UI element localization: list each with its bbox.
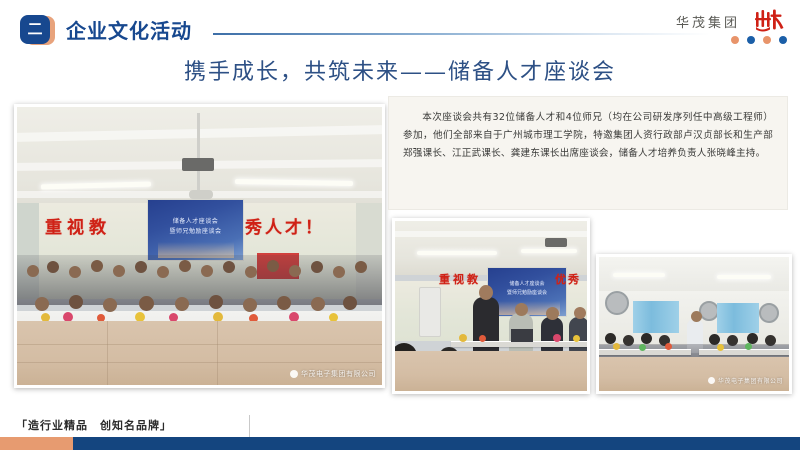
footer-divider [249, 415, 250, 437]
photo-watermark: 华茂电子集团有限公司 [290, 369, 376, 379]
room-light-1 [613, 273, 665, 277]
room-item-3 [665, 343, 672, 350]
brand-dot-2 [747, 36, 755, 44]
room-table-right [699, 349, 789, 355]
seminar-panelist-3-head [574, 307, 586, 319]
footer-bar-orange [0, 437, 73, 450]
section-badge-number: 二 [20, 15, 50, 44]
seminar-projector [545, 238, 567, 247]
slide-main-title: 携手成长，共筑未来——储备人才座谈会 [0, 54, 800, 86]
seminar-screen-line-2: 暨师兄勉励座谈会 [488, 289, 566, 296]
header-divider-rule [213, 33, 710, 35]
projector-mount [189, 190, 213, 199]
section-title: 企业文化活动 [66, 15, 192, 44]
watermark-text: 华茂电子集团有限公司 [301, 369, 376, 379]
projection-screen: 储备人才座谈会 暨师兄勉励座谈会 [147, 199, 244, 261]
projector-body [182, 158, 214, 171]
room-wechat-icon [708, 377, 715, 384]
floor-line-3 [107, 321, 108, 385]
room-item-1 [613, 343, 620, 350]
brand-dot-3 [763, 36, 771, 44]
floor-line-1 [17, 344, 382, 345]
seminar-panelist-2-head [546, 307, 559, 320]
room-light-2 [717, 275, 771, 279]
wall-banner-right: 秀人才！ [245, 213, 325, 238]
seminar-floor [395, 351, 587, 391]
room-curtain-1 [633, 301, 679, 333]
projector-rod [197, 113, 200, 161]
seminar-banner-right: 优秀 [555, 271, 581, 287]
seminar-banner-left: 重视教 [439, 271, 481, 287]
slide-root: 二 企业文化活动 华茂集团 [0, 0, 800, 450]
footer-bar-blue [73, 437, 800, 450]
screen-line-2: 暨师兄勉励座谈会 [148, 226, 243, 235]
description-panel: 本次座谈会共有32位储备人才和4位师兄（均在公司研发序列任中高级工程师）参加，他… [388, 96, 788, 210]
footer-slogan: 「造行业精品 创知名品牌」 [16, 417, 172, 433]
seminar-beam [395, 231, 587, 237]
room-curtain-2 [717, 303, 759, 333]
room-item-5 [745, 343, 752, 350]
room-standing-person-head [691, 311, 702, 322]
photo-group-assembly: 储备人才座谈会 暨师兄勉励座谈会 重视教 秀人才！ [14, 104, 385, 388]
room-watermark-text: 华茂电子集团有限公司 [718, 376, 783, 385]
room-item-2 [639, 344, 646, 351]
seminar-speaker-head [479, 285, 493, 300]
room-item-4 [717, 344, 724, 351]
footer-bar [0, 437, 800, 450]
room-watermark: 华茂电子集团有限公司 [708, 376, 783, 385]
floor-line-2 [17, 362, 382, 363]
seminar-panelist-3 [569, 317, 589, 353]
seminar-laptop [511, 329, 533, 342]
slide-header: 二 企业文化活动 华茂集团 [0, 0, 800, 52]
room-fan-3 [759, 303, 779, 323]
wall-banner-left: 重视教 [45, 213, 111, 238]
brand-dot-1 [731, 36, 739, 44]
seminar-panelist-1-head [515, 303, 528, 316]
section-badge: 二 [17, 13, 57, 45]
floor-line-4 [217, 321, 218, 385]
seminar-item-4 [573, 335, 580, 342]
room-fan-1 [605, 291, 629, 315]
wechat-icon [290, 370, 298, 378]
brand-dot-4 [779, 36, 787, 44]
photo-discussion-room: 华茂电子集团有限公司 [596, 254, 792, 394]
seminar-light-1 [417, 251, 497, 255]
seminar-light-2 [521, 249, 577, 253]
brand-dots [731, 36, 787, 44]
projector-rod-lower [197, 171, 200, 191]
seminar-item-3 [553, 334, 561, 342]
photo-seminar: 储备人才座谈会 暨师兄勉励座谈会 重视教 优秀 [392, 218, 590, 394]
screen-line-1: 储备人才座谈会 [148, 216, 243, 225]
room-floor [599, 357, 789, 391]
room-fan-2 [699, 301, 719, 321]
description-text: 本次座谈会共有32位储备人才和4位师兄（均在公司研发序列任中高级工程师）参加，他… [389, 97, 787, 163]
brand-logo: 华茂集团 [672, 6, 792, 46]
brand-name-text: 华茂集团 [676, 12, 740, 31]
brand-mark-icon [752, 8, 786, 34]
